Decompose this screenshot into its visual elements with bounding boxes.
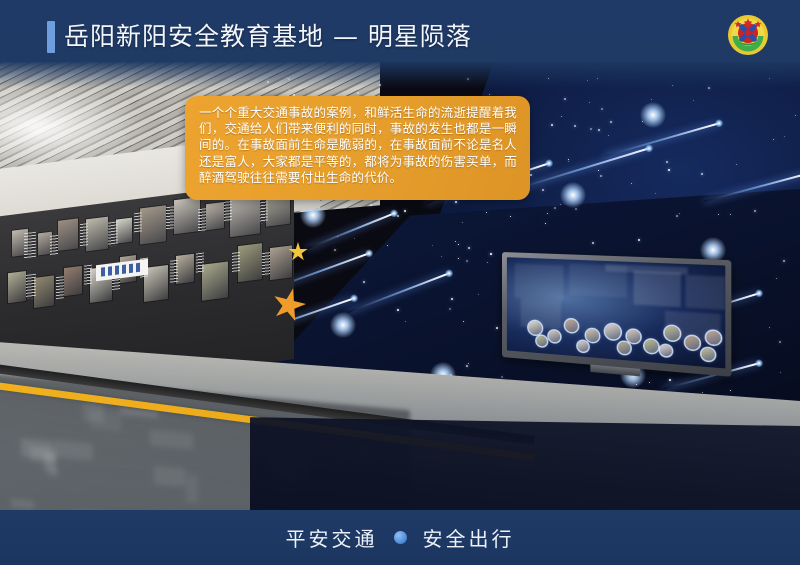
screen-avatar [660, 345, 671, 357]
exhibit-placard [56, 276, 64, 299]
exhibit-portrait [34, 275, 54, 308]
screen-avatar [702, 348, 715, 361]
footer-separator-dot [394, 531, 407, 544]
screen-avatar [578, 341, 589, 352]
screen-avatar [627, 330, 640, 344]
header-bar: 岳阳新阳安全教育基地 — 明星陨落 [0, 0, 800, 70]
footer-text-right: 安全出行 [423, 523, 515, 552]
exhibit-portrait [8, 271, 26, 303]
page-title: 岳阳新阳安全教育基地 — 明星陨落 [64, 18, 472, 56]
exhibit-placard [196, 252, 204, 273]
screen-avatar [565, 319, 577, 332]
exhibit-placard [198, 208, 206, 231]
exhibit-placard [108, 221, 118, 246]
exhibit-portrait [202, 261, 228, 300]
exhibit-portrait [86, 217, 108, 252]
exhibit-placard [262, 252, 270, 275]
exhibit-portrait [206, 202, 224, 230]
exhibit-portrait [176, 254, 194, 284]
interactive-touchscreen[interactable] [502, 252, 731, 377]
exhibit-placard [26, 274, 36, 299]
slide-root: 一个个重大交通事故的案例，和鲜活生命的流逝提醒着我们，交通给人们带来便利的同时，… [0, 0, 800, 565]
callout-bubble: 一个个重大交通事故的案例，和鲜活生命的流逝提醒着我们，交通给人们带来便利的同时，… [185, 96, 530, 200]
footer-text-left: 平安交通 [286, 523, 378, 552]
exhibit-placard [224, 201, 232, 222]
screen-avatar [618, 342, 630, 355]
footer-slogan: 平安交通 安全出行 [0, 510, 800, 565]
exhibit-portrait [64, 266, 82, 296]
exhibit-portrait [270, 245, 292, 280]
title-accent-bar [47, 21, 55, 53]
screen-avatar [605, 324, 620, 340]
callout-text: 一个个重大交通事故的案例，和鲜活生命的流逝提醒着我们，交通给人们带来便利的同时，… [199, 105, 517, 186]
screen-avatar [549, 330, 560, 342]
screen-avatar [706, 331, 720, 345]
screen-avatar [586, 329, 599, 342]
screen-avatar [537, 336, 547, 347]
exhibit-placard [50, 235, 58, 256]
footer-bar: 平安交通 安全出行 [0, 510, 800, 565]
exhibit-placard [166, 206, 174, 229]
traffic-police-emblem-icon [724, 11, 772, 59]
exhibit-placard [80, 223, 88, 246]
exhibit-placard [24, 232, 36, 260]
exhibit-portrait [58, 218, 78, 251]
screen-avatar [645, 339, 658, 353]
screen-bezel [502, 252, 731, 377]
screen-avatar [665, 326, 680, 341]
exhibit-portrait [140, 205, 166, 244]
exhibit-placard [260, 198, 268, 223]
screen-display[interactable] [507, 257, 725, 368]
exhibit-placard [84, 265, 92, 286]
exhibit-placard [170, 260, 178, 283]
screen-avatar [529, 321, 542, 335]
exhibit-portrait [116, 218, 132, 244]
exhibit-portrait [174, 197, 200, 234]
exhibit-placard [232, 252, 240, 273]
screen-avatar [685, 336, 699, 350]
exhibit-placard [134, 212, 142, 233]
exhibit-portrait [238, 243, 262, 282]
